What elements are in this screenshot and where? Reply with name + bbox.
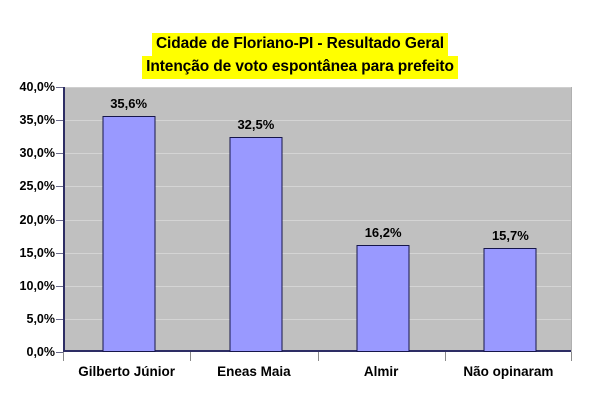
y-axis-tick-mark bbox=[56, 220, 63, 221]
y-axis-tick-mark bbox=[56, 87, 63, 88]
bar[interactable] bbox=[229, 137, 282, 352]
chart-title-line-2: Intenção de voto espontânea para prefeit… bbox=[142, 56, 458, 79]
y-axis-tick-label: 30,0% bbox=[20, 146, 55, 160]
y-axis-tick-mark bbox=[56, 153, 63, 154]
chart-title: Cidade de Floriano-PI - Resultado Geral … bbox=[0, 33, 600, 79]
plot-area: 35,6%32,5%16,2%15,7% bbox=[63, 87, 572, 352]
bar[interactable] bbox=[102, 116, 155, 352]
bar-value-label: 15,7% bbox=[492, 228, 529, 243]
y-axis-tick-mark bbox=[56, 120, 63, 121]
y-axis-tick-label: 0,0% bbox=[27, 345, 56, 359]
y-axis-tick-mark bbox=[56, 286, 63, 287]
x-axis-tick-label: Almir bbox=[364, 364, 399, 379]
x-axis-tick-mark bbox=[318, 352, 319, 361]
y-axis-tick-mark bbox=[56, 186, 63, 187]
y-axis-tick-label: 15,0% bbox=[20, 246, 55, 260]
y-axis-tick-mark bbox=[56, 253, 63, 254]
y-axis-tick-label: 5,0% bbox=[27, 312, 56, 326]
y-axis-tick-label: 20,0% bbox=[20, 213, 55, 227]
x-axis-tick-marks bbox=[63, 352, 572, 361]
bar-value-label: 32,5% bbox=[237, 117, 274, 132]
y-axis-tick-mark bbox=[56, 352, 63, 353]
y-axis-tick-label: 40,0% bbox=[20, 80, 55, 94]
y-axis-tick-label: 35,0% bbox=[20, 113, 55, 127]
bar-chart: Cidade de Floriano-PI - Resultado Geral … bbox=[0, 0, 600, 400]
x-axis-tick-mark bbox=[63, 352, 64, 361]
x-axis-labels: Gilberto JúniorEneas MaiaAlmirNão opinar… bbox=[63, 364, 572, 388]
x-axis-tick-label: Não opinaram bbox=[463, 364, 553, 379]
plot-inner: 35,6%32,5%16,2%15,7% bbox=[65, 87, 571, 352]
chart-title-line-1: Cidade de Floriano-PI - Resultado Geral bbox=[152, 33, 448, 56]
bar-slot: 15,7% bbox=[447, 87, 574, 352]
y-axis-tick-label: 10,0% bbox=[20, 279, 55, 293]
x-axis-tick-label: Gilberto Júnior bbox=[78, 364, 175, 379]
bar[interactable] bbox=[484, 248, 537, 352]
bar[interactable] bbox=[357, 245, 410, 352]
bar-slot: 16,2% bbox=[320, 87, 447, 352]
y-axis-labels: 0,0%5,0%10,0%15,0%20,0%25,0%30,0%35,0%40… bbox=[0, 87, 55, 352]
bar-slot: 35,6% bbox=[65, 87, 192, 352]
y-axis-tick-label: 25,0% bbox=[20, 179, 55, 193]
y-axis-tick-marks bbox=[56, 87, 63, 352]
y-axis-tick-mark bbox=[56, 319, 63, 320]
x-axis-tick-mark bbox=[190, 352, 191, 361]
bar-slot: 32,5% bbox=[192, 87, 319, 352]
x-axis-tick-mark bbox=[445, 352, 446, 361]
bar-value-label: 16,2% bbox=[365, 225, 402, 240]
x-axis-tick-label: Eneas Maia bbox=[217, 364, 291, 379]
x-axis-tick-mark bbox=[571, 352, 572, 361]
bar-value-label: 35,6% bbox=[110, 96, 147, 111]
